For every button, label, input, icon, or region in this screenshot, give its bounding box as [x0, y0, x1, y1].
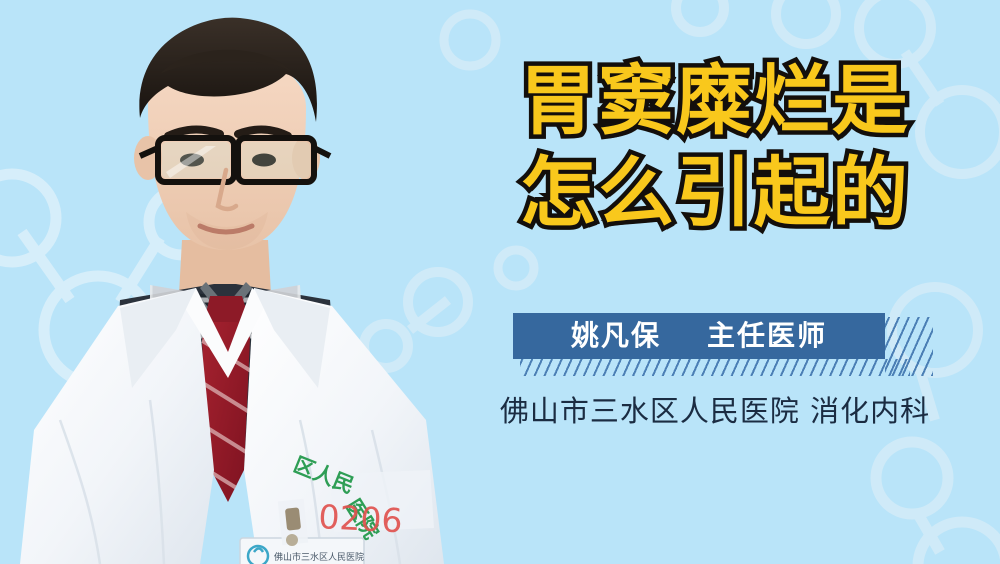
video-title: 胃窦糜烂是 怎么引起的 — [455, 58, 975, 236]
doctor-title: 主任医师 — [707, 322, 827, 350]
video-thumbnail: 区人民 医院 0206 佛山市三水区人民医院 — [0, 0, 1000, 564]
hospital-department-line: 佛山市三水区人民医院 消化内科 — [455, 388, 975, 430]
doctor-name-banner: 姚凡保 主任医师 — [513, 313, 885, 359]
doctor-name: 姚凡保 — [571, 322, 661, 350]
hatch-pattern-right — [885, 317, 933, 376]
svg-text:0206: 0206 — [318, 497, 404, 540]
title-line-1: 胃窦糜烂是 — [455, 58, 975, 144]
name-banner-bar: 姚凡保 主任医师 — [513, 313, 885, 359]
title-line-2: 怎么引起的 — [455, 150, 975, 236]
doctor-portrait-photo: 区人民 医院 0206 佛山市三水区人民医院 — [0, 0, 470, 564]
svg-text:佛山市三水区人民医院: 佛山市三水区人民医院 — [274, 551, 364, 563]
hatch-pattern-under — [520, 359, 910, 376]
